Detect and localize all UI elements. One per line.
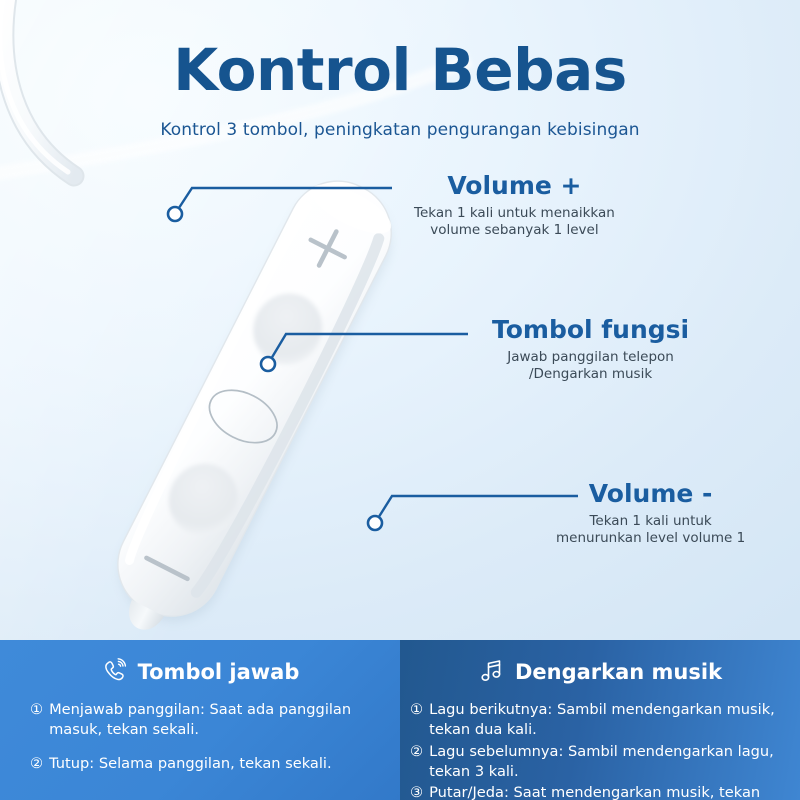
infographic-canvas: Kontrol Bebas Kontrol 3 tombol, peningka… xyxy=(0,0,800,800)
callout-description-line-2: volume sebanyak 1 level xyxy=(414,222,615,240)
list-item-number: ① xyxy=(410,700,423,720)
panel-heading-text: Dengarkan musik xyxy=(515,660,722,684)
callout-description: Jawab panggilan telepon /Dengarkan musik xyxy=(492,349,689,385)
panel-listen-music: Dengarkan musik ① Lagu berikutnya: Sambi… xyxy=(400,640,800,800)
callout-title: Tombol fungsi xyxy=(492,316,689,344)
callout-description-line-1: Tekan 1 kali untuk xyxy=(556,513,745,531)
list-item-number: ③ xyxy=(410,783,423,800)
list-item-text: Putar/Jeda: Saat mendengarkan musik, tek… xyxy=(429,783,790,800)
callout-description-line-1: Jawab panggilan telepon xyxy=(492,349,689,367)
callout-volume-down: Volume - Tekan 1 kali untuk menurunkan l… xyxy=(556,480,745,548)
list-item-text: Tutup: Selama panggilan, tekan sekali. xyxy=(49,754,386,774)
callout-description: Tekan 1 kali untuk menurunkan level volu… xyxy=(556,513,745,549)
list-item-number: ② xyxy=(410,742,423,762)
list-item: ① Lagu berikutnya: Sambil mendengarkan m… xyxy=(410,700,790,740)
list-item: ③ Putar/Jeda: Saat mendengarkan musik, t… xyxy=(410,783,790,800)
list-item: ② Tutup: Selama panggilan, tekan sekali. xyxy=(14,754,386,774)
list-item-text: Menjawab panggilan: Saat ada panggilan m… xyxy=(49,700,386,740)
remote-control-body xyxy=(91,164,408,652)
callout-description-line-1: Tekan 1 kali untuk menaikkan xyxy=(414,205,615,223)
music-note-icon xyxy=(478,658,506,686)
leader-dot-volume-down xyxy=(368,516,382,530)
callout-volume-up: Volume + Tekan 1 kali untuk menaikkan vo… xyxy=(414,172,615,240)
callout-title: Volume - xyxy=(556,480,745,508)
list-item: ① Menjawab panggilan: Saat ada panggilan… xyxy=(14,700,386,740)
list-item-number: ② xyxy=(30,754,43,774)
callout-title: Volume + xyxy=(414,172,615,200)
panel-item-list: ① Lagu berikutnya: Sambil mendengarkan m… xyxy=(410,700,790,800)
callout-description: Tekan 1 kali untuk menaikkan volume seba… xyxy=(414,205,615,241)
list-item: ② Lagu sebelumnya: Sambil mendengarkan l… xyxy=(410,742,790,782)
leader-dot-volume-up xyxy=(168,207,182,221)
panel-answer-button: Tombol jawab ① Menjawab panggilan: Saat … xyxy=(0,640,400,800)
leader-line-volume-down xyxy=(375,496,578,523)
leader-dot-function xyxy=(261,357,275,371)
panel-heading-row: Dengarkan musik xyxy=(410,654,790,690)
panel-heading-text: Tombol jawab xyxy=(138,660,300,684)
list-item-number: ① xyxy=(30,700,43,720)
phone-call-icon xyxy=(101,658,129,686)
callout-function-button: Tombol fungsi Jawab panggilan telepon /D… xyxy=(492,316,689,384)
callout-description-line-2: menurunkan level volume 1 xyxy=(556,530,745,548)
list-item-text: Lagu berikutnya: Sambil mendengarkan mus… xyxy=(429,700,790,740)
page-subtitle: Kontrol 3 tombol, peningkatan penguranga… xyxy=(0,120,800,140)
list-item-text: Lagu sebelumnya: Sambil mendengarkan lag… xyxy=(429,742,790,782)
bottom-panel: Tombol jawab ① Menjawab panggilan: Saat … xyxy=(0,640,800,800)
panel-heading-row: Tombol jawab xyxy=(14,654,386,690)
callout-description-line-2: /Dengarkan musik xyxy=(492,366,689,384)
panel-item-list: ① Menjawab panggilan: Saat ada panggilan… xyxy=(14,700,386,774)
page-title: Kontrol Bebas xyxy=(0,40,800,101)
